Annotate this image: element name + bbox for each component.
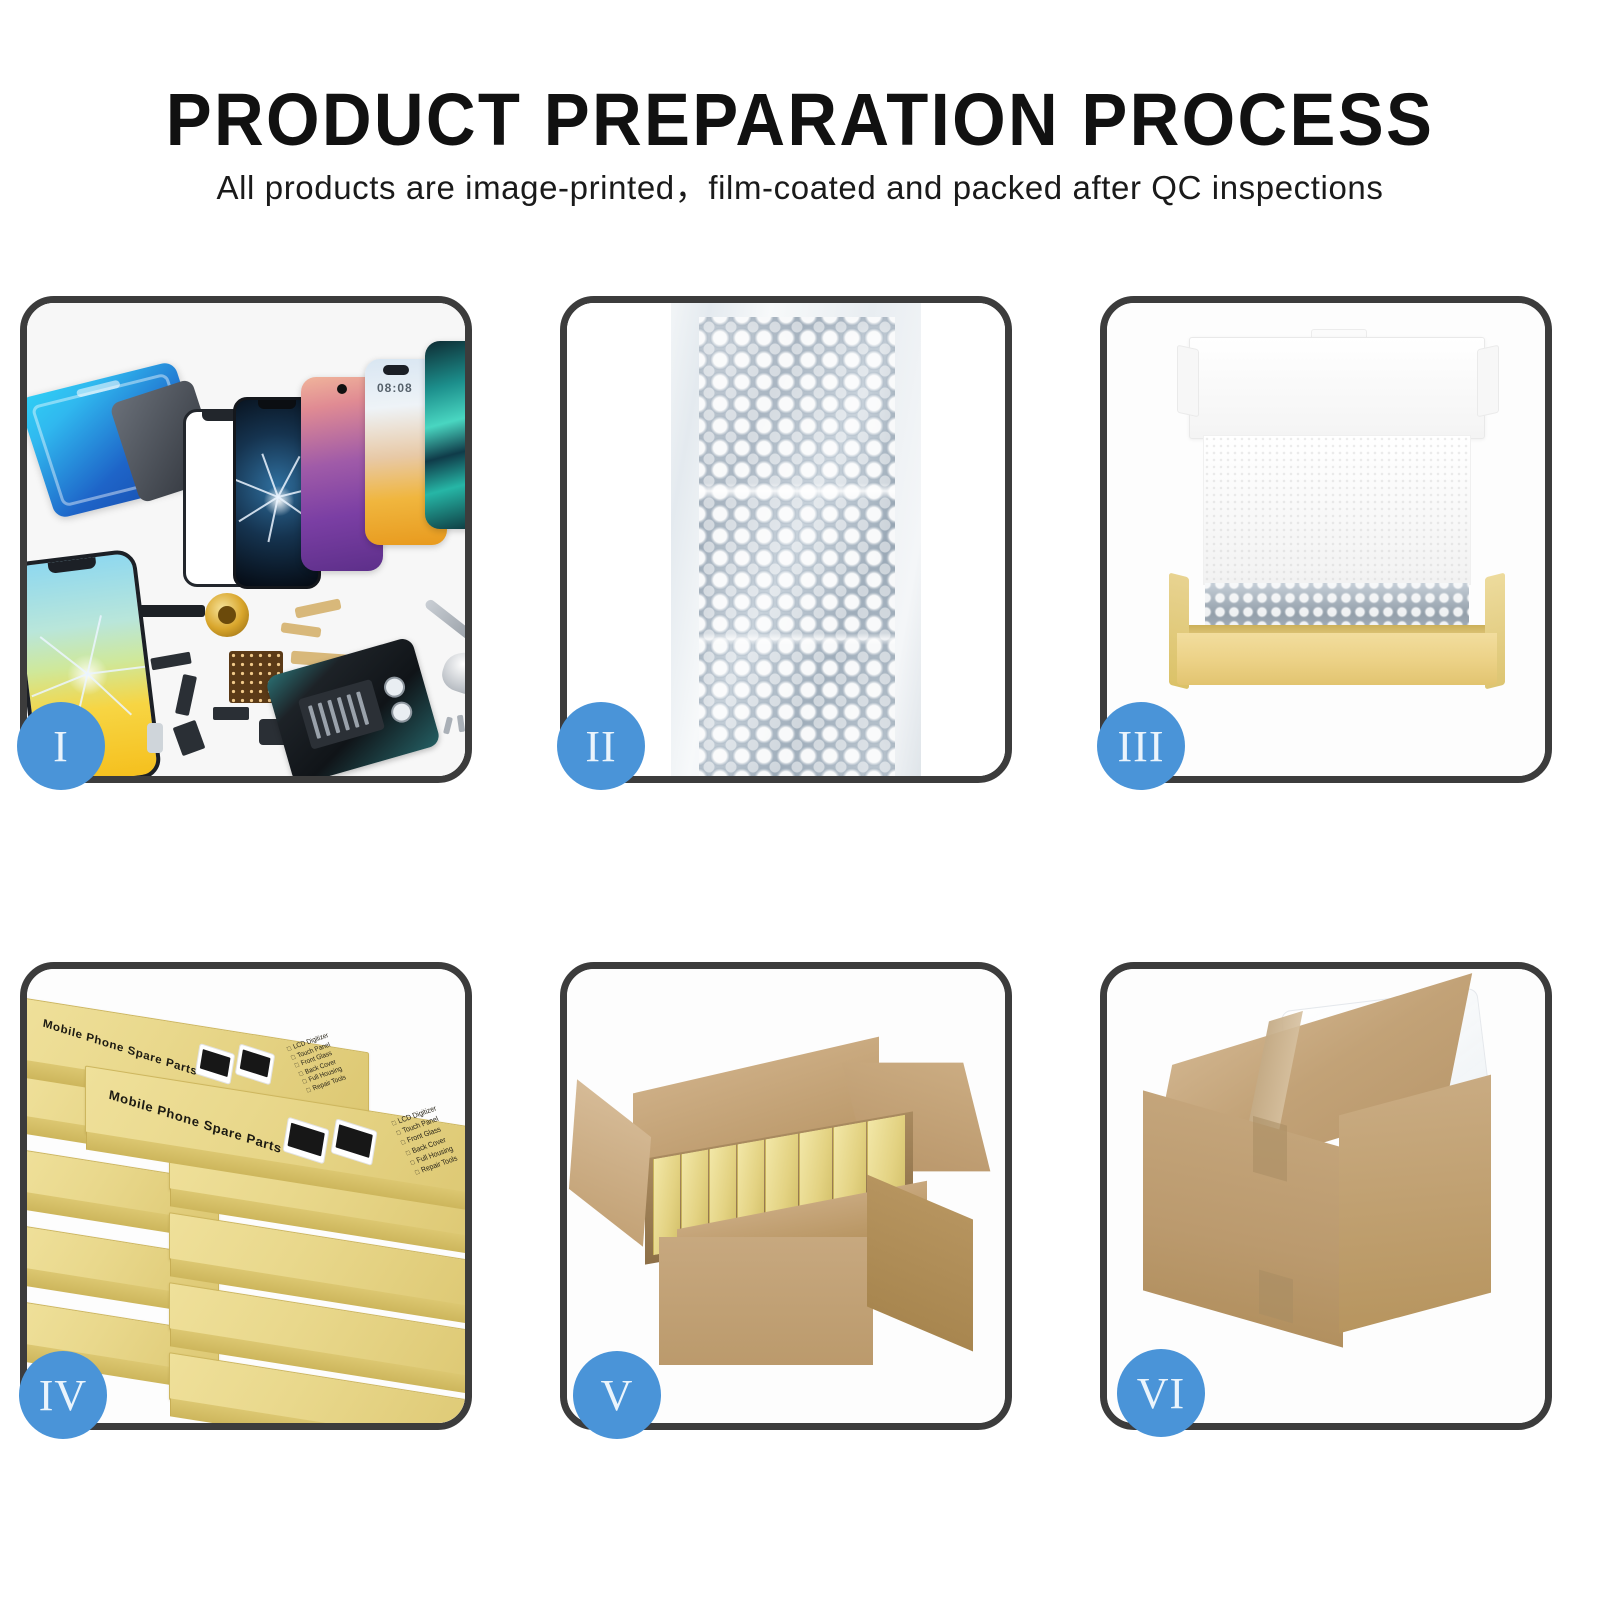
retail-box-phone-image [196, 1044, 234, 1084]
film-highlight [699, 483, 895, 499]
retail-box-phone-image [284, 1118, 329, 1163]
step-badge-6: VI [1117, 1349, 1205, 1437]
camera-lens-part [389, 699, 415, 725]
bubble-wrap-sheet [699, 317, 895, 776]
connector-part [213, 707, 249, 720]
film-highlight [699, 633, 895, 645]
step-1-image: 08:08 [27, 303, 465, 776]
teal-phone-display [425, 341, 465, 529]
box-lid-back [1189, 337, 1485, 439]
step-badge-5: V [573, 1351, 661, 1439]
process-step-panel-3[interactable]: III [1100, 296, 1552, 783]
earpiece-speaker-part [139, 605, 205, 617]
sim-tray-part [147, 723, 163, 753]
carton-side-face [867, 1175, 973, 1352]
foam-insert-sheet [1203, 435, 1471, 585]
process-step-panel-4[interactable]: Mobile Phone Spare Parts LCD Digitizer T… [20, 962, 472, 1430]
step-4-image: Mobile Phone Spare Parts LCD Digitizer T… [27, 969, 465, 1423]
tape-edge-strip [1253, 1116, 1287, 1182]
box-side-flap-right [1477, 345, 1499, 418]
camera-pill [383, 365, 409, 375]
camera-lens-part [382, 674, 408, 700]
retail-box-phone-image [332, 1119, 377, 1164]
carton-front-face [659, 1237, 873, 1365]
process-step-panel-6[interactable]: VI [1100, 962, 1552, 1430]
box-side-flap-left [1177, 345, 1199, 418]
front-camera-dot [337, 384, 347, 394]
phone-clock-label: 08:08 [377, 381, 413, 395]
step-3-image [1107, 303, 1545, 776]
retail-box-phone-image [236, 1045, 274, 1085]
process-step-grid: 08:08 [0, 0, 1600, 1600]
process-step-panel-1[interactable]: 08:08 [20, 296, 472, 783]
process-step-panel-5[interactable]: V [560, 962, 1012, 1430]
carton-side-face [1339, 1075, 1491, 1334]
step-badge-4: IV [19, 1351, 107, 1439]
step-badge-2: II [557, 702, 645, 790]
retail-box-checklist: LCD Digitizer Touch Panel Front Glass Ba… [390, 1103, 462, 1177]
step-2-image [567, 303, 1005, 776]
crack-line [87, 674, 132, 716]
process-step-panel-2[interactable]: II [560, 296, 1012, 783]
wireless-charging-coil-part [205, 593, 249, 637]
phone-notch [48, 557, 97, 574]
battery-part [298, 679, 385, 750]
step-badge-3: III [1097, 702, 1185, 790]
mailer-box-front-wall [1177, 633, 1497, 685]
phone-notch [258, 400, 296, 409]
retail-box-stack: Mobile Phone Spare Parts LCD Digitizer T… [27, 969, 465, 1423]
retail-box-checklist: LCD Digitizer Touch Panel Front Glass Ba… [286, 1032, 350, 1096]
screws-part [445, 715, 465, 737]
tape-edge-strip [1259, 1270, 1293, 1324]
step-badge-1: I [17, 702, 105, 790]
